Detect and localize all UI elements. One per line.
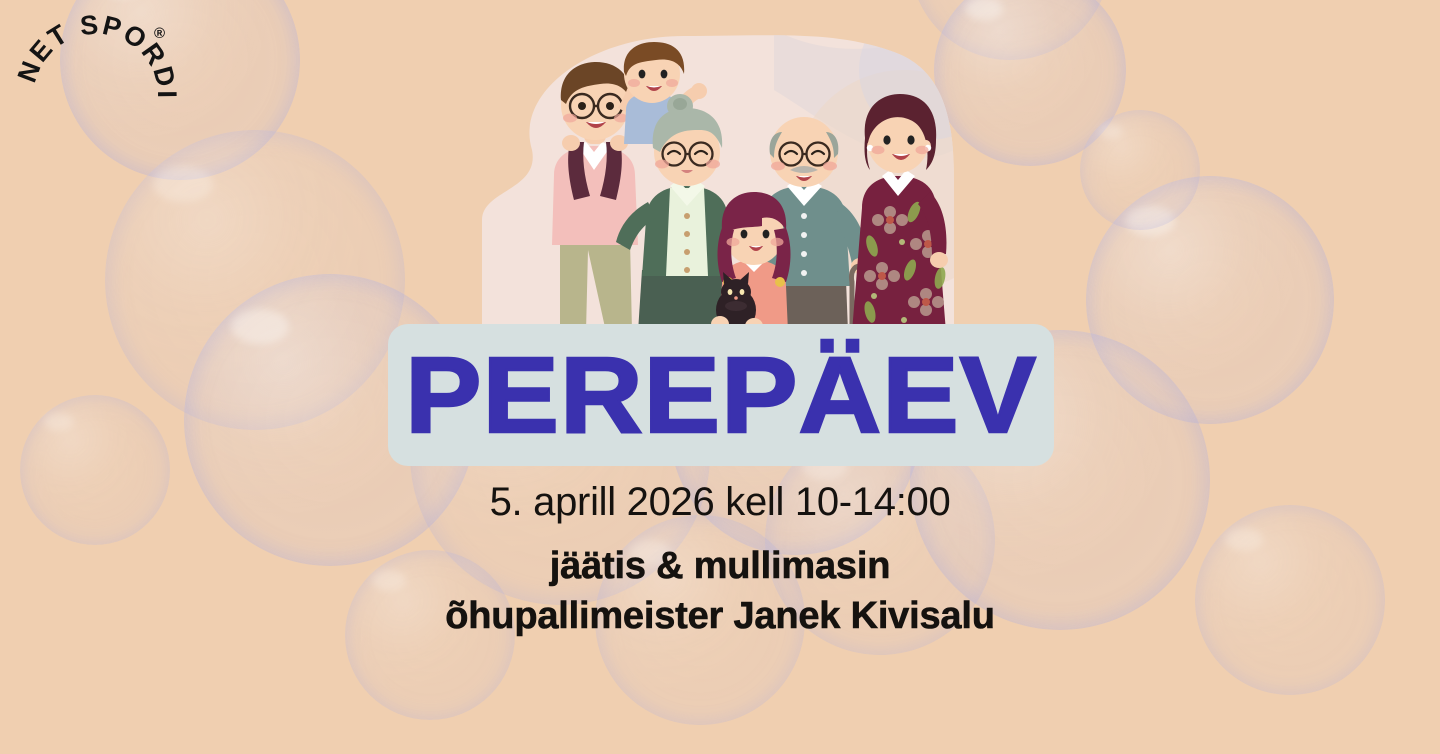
- event-details: 5. aprill 2026 kell 10-14:00 jäätis & mu…: [0, 480, 1440, 641]
- figure-mother: [852, 94, 948, 332]
- cartoon-family-illustration: [474, 30, 954, 332]
- title-banner: PEREPÄEV: [388, 324, 1054, 466]
- event-detail-line-1: jäätis & mullimasin: [0, 541, 1440, 591]
- event-date-time: 5. aprill 2026 kell 10-14:00: [0, 480, 1440, 525]
- registered-mark-icon: ®: [154, 25, 165, 42]
- soap-bubble: [1080, 110, 1200, 230]
- event-detail-line-2: õhupallimeister Janek Kivisalu: [0, 591, 1440, 641]
- svg-text:NET SPORDIHALL: NET SPORDIHALL: [8, 8, 182, 100]
- net-spordihall-logo: NET SPORDIHALL ®: [8, 8, 184, 184]
- event-poster: NET SPORDIHALL ®: [0, 0, 1440, 754]
- page-title: PEREPÄEV: [405, 341, 1037, 449]
